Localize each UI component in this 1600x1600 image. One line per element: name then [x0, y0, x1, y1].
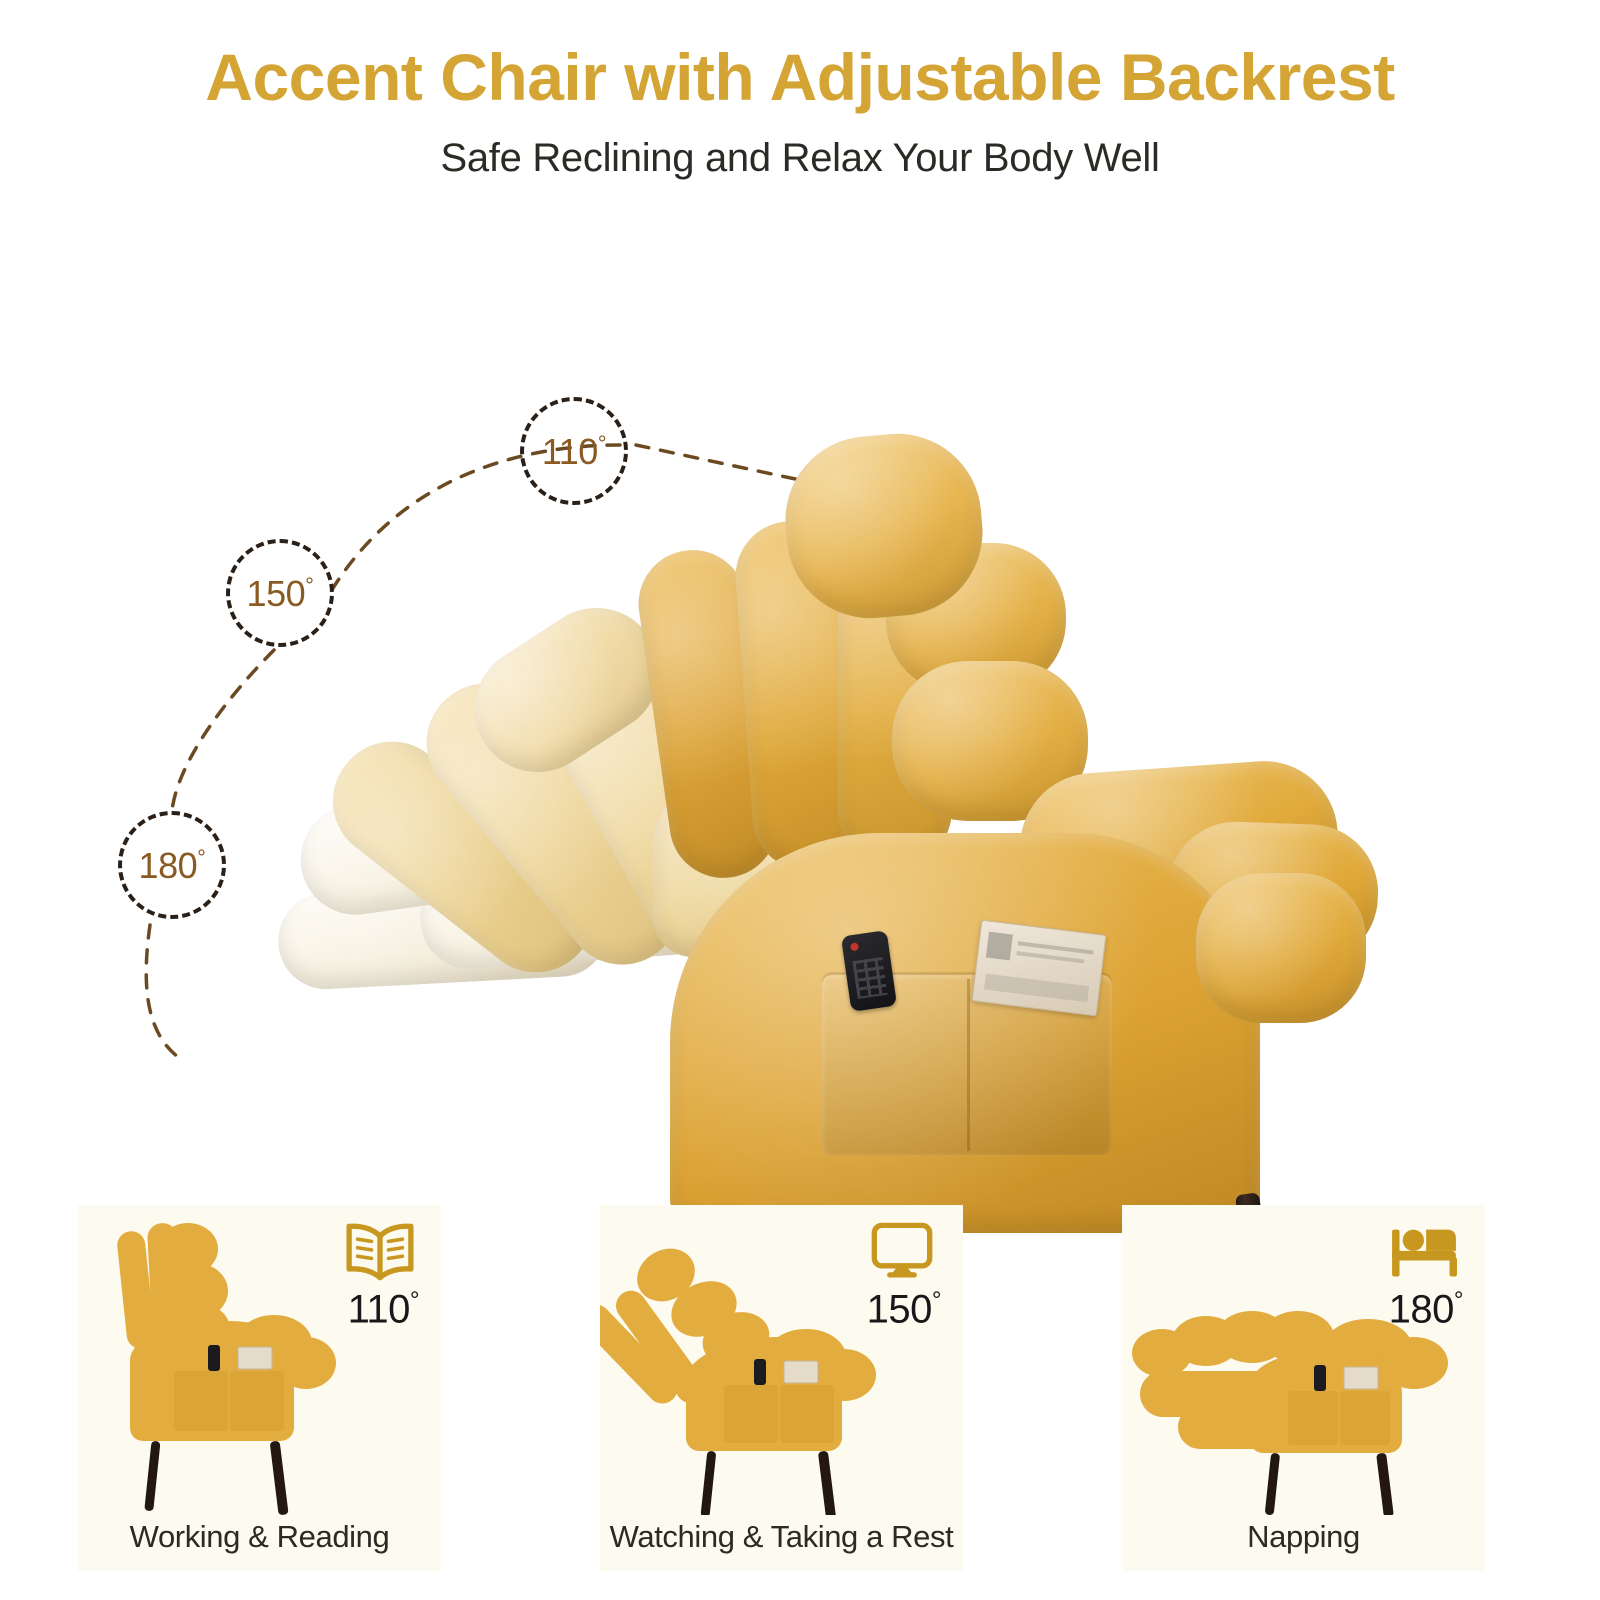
panel-angle-110: 110° [348, 1289, 419, 1329]
panel-caption-napping: Napping [1122, 1519, 1485, 1555]
chair-upright-110 [640, 315, 1360, 1215]
angle-marker-150: 150° [226, 539, 334, 647]
page-subtitle: Safe Reclining and Relax Your Body Well [0, 110, 1600, 181]
page-title: Accent Chair with Adjustable Backrest [0, 0, 1600, 110]
panel-caption-watching-rest: Watching & Taking a Rest [600, 1519, 963, 1555]
angle-marker-110: 110° [520, 397, 628, 505]
panel-angle-180: 180° [1389, 1289, 1463, 1329]
usage-scenario-panels: 110° Working & Reading [0, 1205, 1600, 1575]
open-book-icon [341, 1219, 419, 1285]
monitor-icon [863, 1219, 941, 1285]
header: Accent Chair with Adjustable Backrest Sa… [0, 0, 1600, 181]
product-infographic: Accent Chair with Adjustable Backrest Sa… [0, 0, 1600, 1600]
panel-angle-150: 150° [867, 1289, 941, 1329]
hero-illustration: 110° 150° 180° [0, 195, 1600, 1205]
angle-marker-180: 180° [118, 811, 226, 919]
scenario-panel-napping: 180° Napping [1122, 1205, 1485, 1571]
magazine-icon [971, 920, 1106, 1017]
bed-icon [1385, 1219, 1463, 1285]
scenario-panel-working-reading: 110° Working & Reading [78, 1205, 441, 1571]
panel-caption-working-reading: Working & Reading [78, 1519, 441, 1555]
scenario-panel-watching-rest: 150° Watching & Taking a Rest [600, 1205, 963, 1571]
